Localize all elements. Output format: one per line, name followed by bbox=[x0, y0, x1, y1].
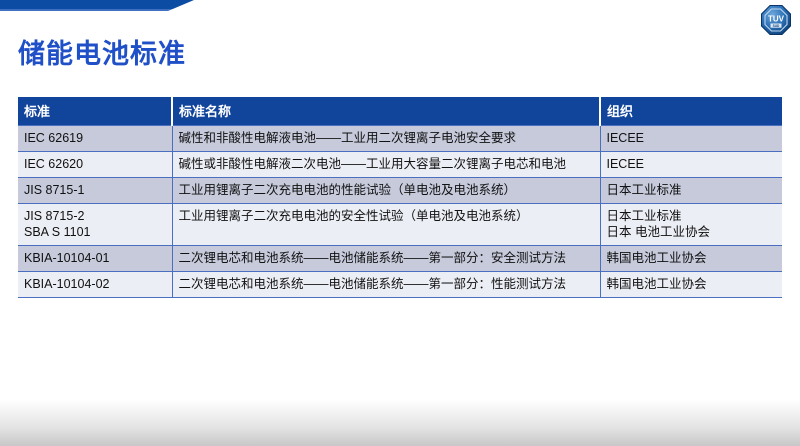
column-header-standard-name: 标准名称 bbox=[172, 97, 600, 126]
cell-standard-name: 工业用锂离子二次充电电池的性能试验（单电池及电池系统） bbox=[172, 178, 600, 204]
cell-organization: IECEE bbox=[600, 126, 782, 152]
svg-text:TUV: TUV bbox=[768, 15, 785, 24]
cell-standard-name: 工业用锂离子二次充电电池的安全性试验（单电池及电池系统） bbox=[172, 204, 600, 246]
organization-text: 韩国电池工业协会 bbox=[607, 276, 777, 292]
cell-standard-name: 碱性和非酸性电解液电池——工业用二次锂离子电池安全要求 bbox=[172, 126, 600, 152]
banner-right-blank bbox=[194, 0, 800, 11]
organization-text: 日本工业标准 bbox=[607, 182, 777, 198]
cell-standard-name: 二次锂电芯和电池系统——电池储能系统——第一部分：性能测试方法 bbox=[172, 272, 600, 298]
standard-code: KBIA-10104-01 bbox=[24, 250, 166, 266]
table-header-row: 标准 标准名称 组织 bbox=[18, 97, 782, 126]
standard-code: JIS 8715-2 bbox=[24, 208, 166, 224]
standard-name-text: 工业用锂离子二次充电电池的安全性试验（单电池及电池系统） bbox=[179, 208, 594, 224]
table-row: JIS 8715-1 工业用锂离子二次充电电池的性能试验（单电池及电池系统） 日… bbox=[18, 178, 782, 204]
tuv-logo: TUV SUD bbox=[760, 4, 792, 36]
cell-organization: 韩国电池工业协会 bbox=[600, 246, 782, 272]
cell-standard: KBIA-10104-02 bbox=[18, 272, 172, 298]
table-body: IEC 62619 碱性和非酸性电解液电池——工业用二次锂离子电池安全要求 IE… bbox=[18, 126, 782, 298]
organization-text: 日本工业标准 bbox=[607, 208, 777, 224]
cell-standard: JIS 8715-2 SBA S 1101 bbox=[18, 204, 172, 246]
standard-code: IEC 62620 bbox=[24, 156, 166, 172]
organization-text: IECEE bbox=[607, 130, 777, 146]
table-row: JIS 8715-2 SBA S 1101 工业用锂离子二次充电电池的安全性试验… bbox=[18, 204, 782, 246]
cell-standard: KBIA-10104-01 bbox=[18, 246, 172, 272]
cell-standard: IEC 62620 bbox=[18, 152, 172, 178]
standard-name-text: 碱性和非酸性电解液电池——工业用二次锂离子电池安全要求 bbox=[179, 130, 594, 146]
column-header-organization: 组织 bbox=[600, 97, 782, 126]
table-row: IEC 62620 碱性或非酸性电解液二次电池——工业用大容量二次锂离子电芯和电… bbox=[18, 152, 782, 178]
cell-standard: JIS 8715-1 bbox=[18, 178, 172, 204]
standard-code-secondary: SBA S 1101 bbox=[24, 224, 166, 240]
cell-standard: IEC 62619 bbox=[18, 126, 172, 152]
organization-text: 韩国电池工业协会 bbox=[607, 250, 777, 266]
standard-code: JIS 8715-1 bbox=[24, 182, 166, 198]
cell-organization: 日本工业标准 bbox=[600, 178, 782, 204]
organization-text: IECEE bbox=[607, 156, 777, 172]
svg-text:SUD: SUD bbox=[773, 24, 780, 28]
standard-name-text: 碱性或非酸性电解液二次电池——工业用大容量二次锂离子电芯和电池 bbox=[179, 156, 594, 172]
standard-code: IEC 62619 bbox=[24, 130, 166, 146]
cell-organization: IECEE bbox=[600, 152, 782, 178]
cell-organization: 日本工业标准 日本 电池工业协会 bbox=[600, 204, 782, 246]
standard-name-text: 工业用锂离子二次充电电池的性能试验（单电池及电池系统） bbox=[179, 182, 594, 198]
organization-text-secondary: 日本 电池工业协会 bbox=[607, 224, 777, 240]
table-row: IEC 62619 碱性和非酸性电解液电池——工业用二次锂离子电池安全要求 IE… bbox=[18, 126, 782, 152]
top-banner bbox=[0, 0, 800, 11]
table-row: KBIA-10104-02 二次锂电芯和电池系统——电池储能系统——第一部分：性… bbox=[18, 272, 782, 298]
column-header-standard: 标准 bbox=[18, 97, 172, 126]
standard-name-text: 二次锂电芯和电池系统——电池储能系统——第一部分：性能测试方法 bbox=[179, 276, 594, 292]
cell-standard-name: 二次锂电芯和电池系统——电池储能系统——第一部分：安全测试方法 bbox=[172, 246, 600, 272]
footer-fade-band bbox=[0, 400, 800, 446]
page-title: 储能电池标准 bbox=[18, 37, 186, 71]
table-row: KBIA-10104-01 二次锂电芯和电池系统——电池储能系统——第一部分：安… bbox=[18, 246, 782, 272]
cell-standard-name: 碱性或非酸性电解液二次电池——工业用大容量二次锂离子电芯和电池 bbox=[172, 152, 600, 178]
standard-code: KBIA-10104-02 bbox=[24, 276, 166, 292]
standards-table: 标准 标准名称 组织 IEC 62619 碱性和非酸性电解液电池——工业用二次锂… bbox=[18, 97, 782, 298]
cell-organization: 韩国电池工业协会 bbox=[600, 272, 782, 298]
standard-name-text: 二次锂电芯和电池系统——电池储能系统——第一部分：安全测试方法 bbox=[179, 250, 594, 266]
